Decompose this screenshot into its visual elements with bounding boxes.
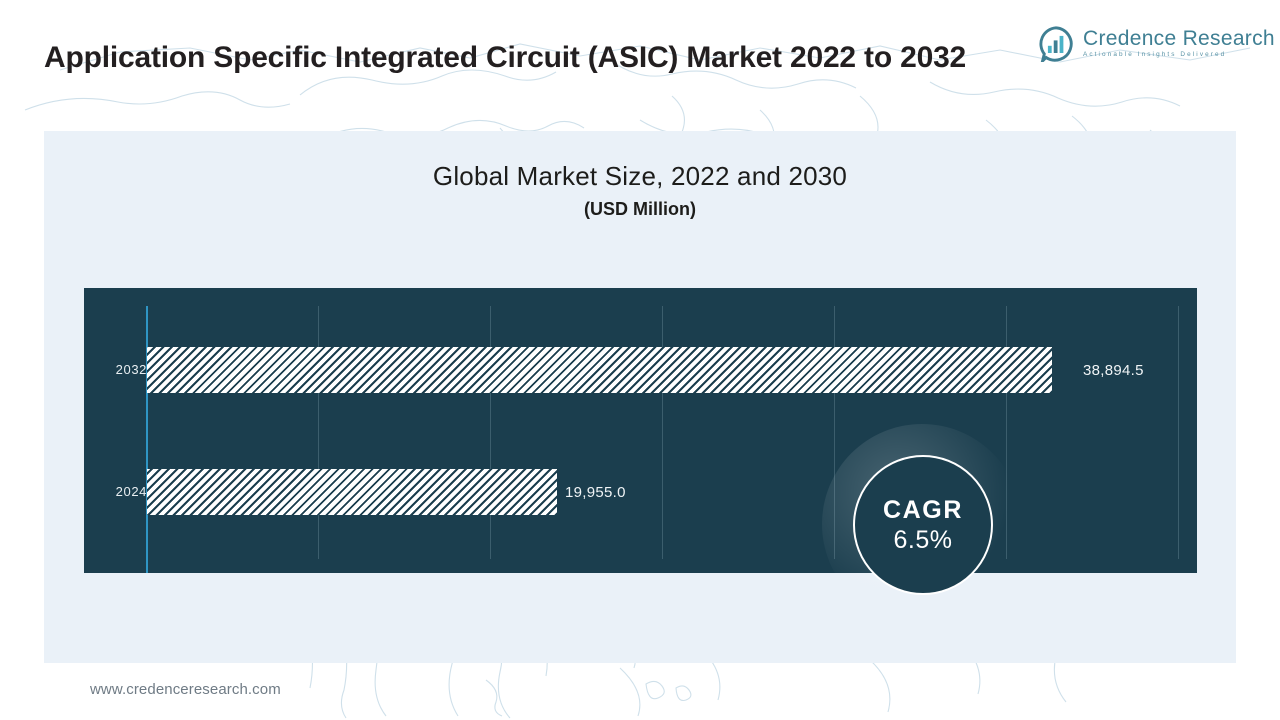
gridline-6	[1178, 306, 1179, 559]
gridline-5	[1006, 306, 1007, 559]
chart-title: Global Market Size, 2022 and 2030	[44, 161, 1236, 192]
category-label-1: 2024	[116, 484, 147, 499]
bar-1	[147, 469, 557, 515]
gridline-4	[834, 306, 835, 559]
logo-company-name: Credence Research	[1083, 28, 1275, 50]
category-label-0: 2032	[116, 362, 147, 377]
footer-url: www.credenceresearch.com	[90, 681, 281, 698]
infographic-canvas: Application Specific Integrated Circuit …	[0, 0, 1280, 720]
gridline-1	[318, 306, 319, 559]
bar-value-1: 19,955.0	[565, 484, 626, 501]
cagr-label: CAGR	[883, 496, 963, 525]
page-title: Application Specific Integrated Circuit …	[44, 38, 1004, 78]
logo-text: Credence Research Actionable Insights De…	[1083, 28, 1275, 60]
logo-tagline: Actionable Insights Delivered	[1083, 50, 1275, 60]
chart-plot-area: 2032 38,894.5 2024 19,955.0	[84, 288, 1197, 573]
gridline-3	[662, 306, 663, 559]
brand-logo: Credence Research Actionable Insights De…	[1038, 26, 1275, 62]
gridline-2	[490, 306, 491, 559]
chart-subtitle: (USD Million)	[44, 199, 1236, 220]
bar-0	[147, 347, 1052, 393]
credence-bar-chart-bubble-logo-icon	[1038, 26, 1074, 62]
plot-inner: 2032 38,894.5 2024 19,955.0	[84, 288, 1197, 573]
cagr-badge: CAGR 6.5%	[853, 455, 993, 595]
cagr-value: 6.5%	[894, 526, 953, 555]
bar-value-0: 38,894.5	[1083, 362, 1144, 379]
